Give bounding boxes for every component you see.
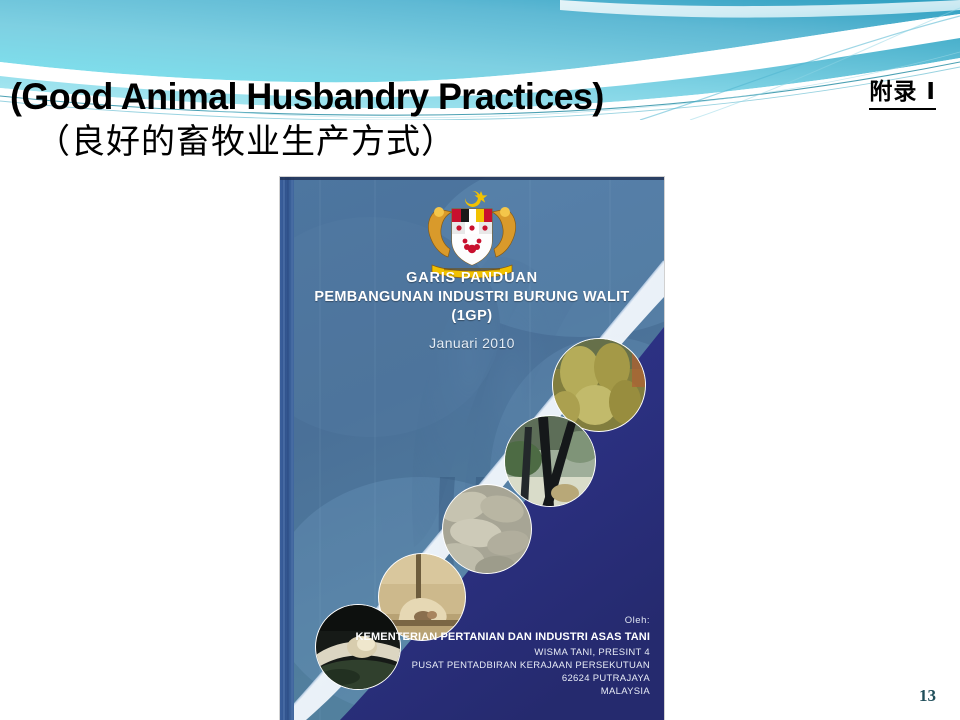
- page-title-english: (Good Animal Husbandry Practices): [10, 76, 786, 118]
- page-title-chinese: （良好的畜牧业生产方式）: [36, 120, 810, 164]
- book-cover-image: GARIS PANDUAN PEMBANGUNAN INDUSTRI BURUN…: [280, 177, 664, 720]
- photo-inset-swiftlet: [315, 604, 401, 690]
- book-cover-artwork: [280, 177, 664, 720]
- appendix-label: 附录 I: [869, 78, 936, 110]
- slide-canvas: (Good Animal Husbandry Practices) （良好的畜牧…: [0, 0, 960, 720]
- page-number: 13: [919, 686, 936, 706]
- title-block: (Good Animal Husbandry Practices) （良好的畜牧…: [10, 76, 810, 164]
